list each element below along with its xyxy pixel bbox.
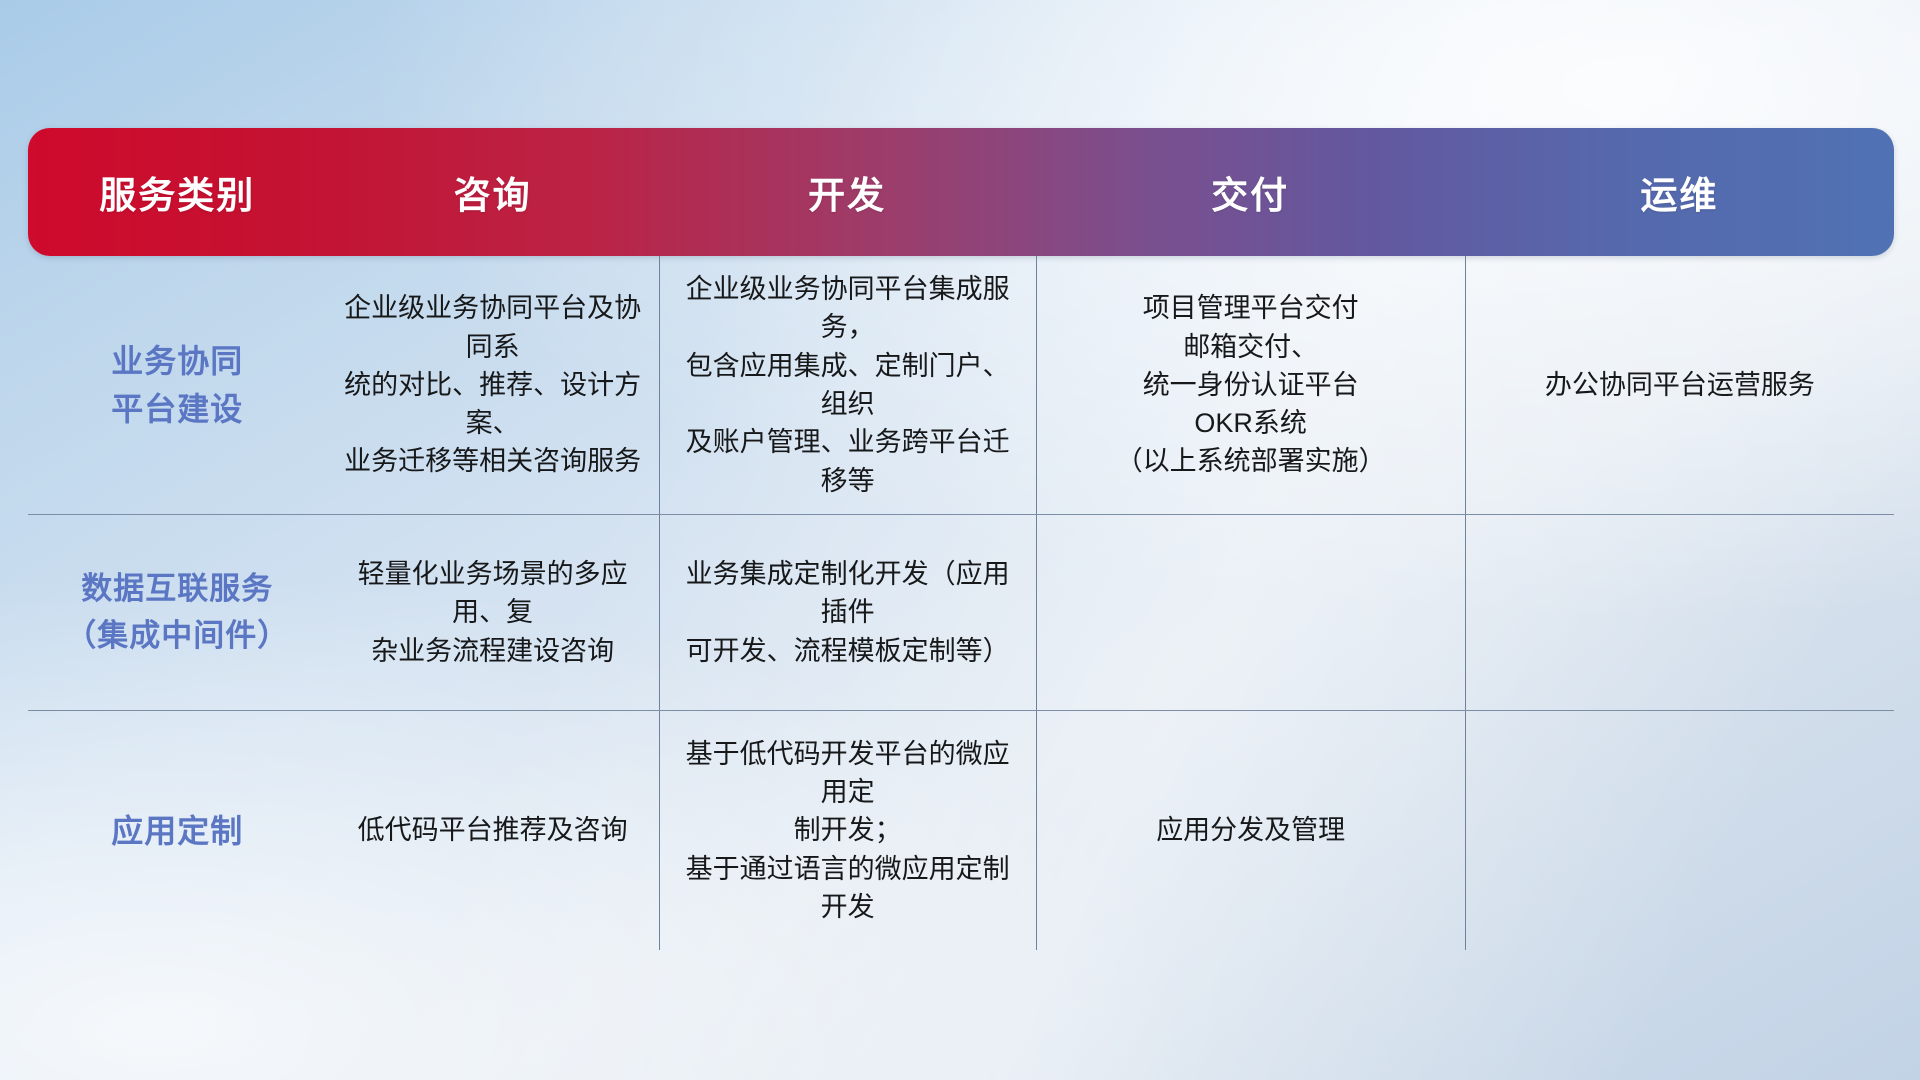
cell-consulting-2: 轻量化业务场景的多应用、复 杂业务流程建设咨询	[327, 515, 659, 710]
cell-operations-2	[1465, 515, 1894, 710]
service-matrix-table: 服务类别 咨询 开发 交付 运维 业务协同 平台建设 企业级业务协同平台及协同系…	[28, 128, 1894, 950]
cell-consulting-3: 低代码平台推荐及咨询	[327, 711, 659, 950]
table-header-row: 服务类别 咨询 开发 交付 运维	[28, 128, 1894, 256]
cell-category-1: 业务协同 平台建设	[28, 256, 327, 514]
column-header-development: 开发	[659, 128, 1036, 256]
page-background: 服务类别 咨询 开发 交付 运维 业务协同 平台建设 企业级业务协同平台及协同系…	[0, 0, 1920, 1080]
table-row: 应用定制 低代码平台推荐及咨询 基于低代码开发平台的微应用定 制开发； 基于通过…	[28, 710, 1894, 950]
column-header-operations: 运维	[1465, 128, 1894, 256]
cell-development-2: 业务集成定制化开发（应用插件 可开发、流程模板定制等）	[659, 515, 1036, 710]
column-header-delivery: 交付	[1036, 128, 1465, 256]
cell-consulting-1: 企业级业务协同平台及协同系 统的对比、推荐、设计方案、 业务迁移等相关咨询服务	[327, 256, 659, 514]
table-row: 数据互联服务 （集成中间件） 轻量化业务场景的多应用、复 杂业务流程建设咨询 业…	[28, 514, 1894, 710]
cell-delivery-1: 项目管理平台交付 邮箱交付、 统一身份认证平台 OKR系统 （以上系统部署实施）	[1036, 256, 1465, 514]
cell-operations-1: 办公协同平台运营服务	[1465, 256, 1894, 514]
table-row: 业务协同 平台建设 企业级业务协同平台及协同系 统的对比、推荐、设计方案、 业务…	[28, 256, 1894, 514]
table-body: 业务协同 平台建设 企业级业务协同平台及协同系 统的对比、推荐、设计方案、 业务…	[28, 256, 1894, 950]
cell-operations-3	[1465, 711, 1894, 950]
column-header-consulting: 咨询	[327, 128, 659, 256]
cell-development-3: 基于低代码开发平台的微应用定 制开发； 基于通过语言的微应用定制开发	[659, 711, 1036, 950]
cell-delivery-3: 应用分发及管理	[1036, 711, 1465, 950]
cell-category-2: 数据互联服务 （集成中间件）	[28, 515, 327, 710]
cell-development-1: 企业级业务协同平台集成服务， 包含应用集成、定制门户、组织 及账户管理、业务跨平…	[659, 256, 1036, 514]
column-header-category: 服务类别	[28, 128, 327, 256]
cell-delivery-2	[1036, 515, 1465, 710]
cell-category-3: 应用定制	[28, 711, 327, 950]
